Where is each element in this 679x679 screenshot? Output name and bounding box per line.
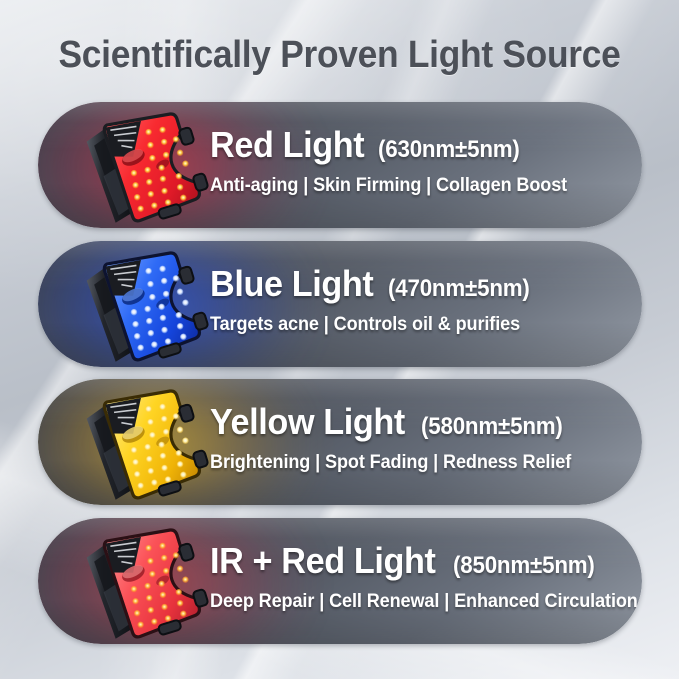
card-title-line: IR + Red Light(850nm±5nm) bbox=[210, 540, 618, 587]
card-benefits: Anti-aging | Skin Firming | Collagen Boo… bbox=[210, 173, 598, 198]
card-text: IR + Red Light(850nm±5nm) Deep Repair | … bbox=[210, 540, 618, 614]
led-face-mask-ir-red-icon bbox=[62, 520, 212, 644]
light-mode-card-ir-red[interactable]: IR + Red Light(850nm±5nm) Deep Repair | … bbox=[38, 518, 642, 644]
card-benefits: Targets acne | Controls oil & purifies bbox=[210, 312, 598, 337]
led-face-mask-red-icon bbox=[62, 104, 212, 228]
card-text: Red Light(630nm±5nm) Anti-aging | Skin F… bbox=[210, 124, 618, 198]
light-mode-card-red[interactable]: Red Light(630nm±5nm) Anti-aging | Skin F… bbox=[38, 102, 642, 228]
card-title: Yellow Light bbox=[210, 401, 405, 443]
card-wavelength: (470nm±5nm) bbox=[388, 268, 530, 310]
card-title-line: Red Light(630nm±5nm) bbox=[210, 124, 618, 171]
light-mode-card-yellow[interactable]: Yellow Light(580nm±5nm) Brightening | Sp… bbox=[38, 379, 642, 505]
led-face-mask-blue-icon bbox=[62, 243, 212, 367]
card-title-line: Yellow Light(580nm±5nm) bbox=[210, 401, 618, 448]
page-title: Scientifically Proven Light Source bbox=[24, 33, 655, 77]
card-wavelength: (580nm±5nm) bbox=[421, 406, 563, 448]
card-wavelength: (630nm±5nm) bbox=[378, 129, 520, 171]
led-face-mask-yellow-icon bbox=[62, 381, 212, 505]
light-mode-card-blue[interactable]: Blue Light(470nm±5nm) Targets acne | Con… bbox=[38, 241, 642, 367]
card-benefits: Brightening | Spot Fading | Redness Reli… bbox=[210, 450, 598, 475]
card-title: Red Light bbox=[210, 124, 364, 166]
card-title: IR + Red Light bbox=[210, 540, 436, 582]
card-title-line: Blue Light(470nm±5nm) bbox=[210, 263, 618, 310]
card-text: Yellow Light(580nm±5nm) Brightening | Sp… bbox=[210, 401, 618, 475]
card-benefits: Deep Repair | Cell Renewal | Enhanced Ci… bbox=[210, 589, 598, 614]
card-text: Blue Light(470nm±5nm) Targets acne | Con… bbox=[210, 263, 618, 337]
card-title: Blue Light bbox=[210, 263, 373, 305]
light-source-infographic: Scientifically Proven Light Source bbox=[0, 0, 679, 679]
card-wavelength: (850nm±5nm) bbox=[453, 545, 595, 587]
